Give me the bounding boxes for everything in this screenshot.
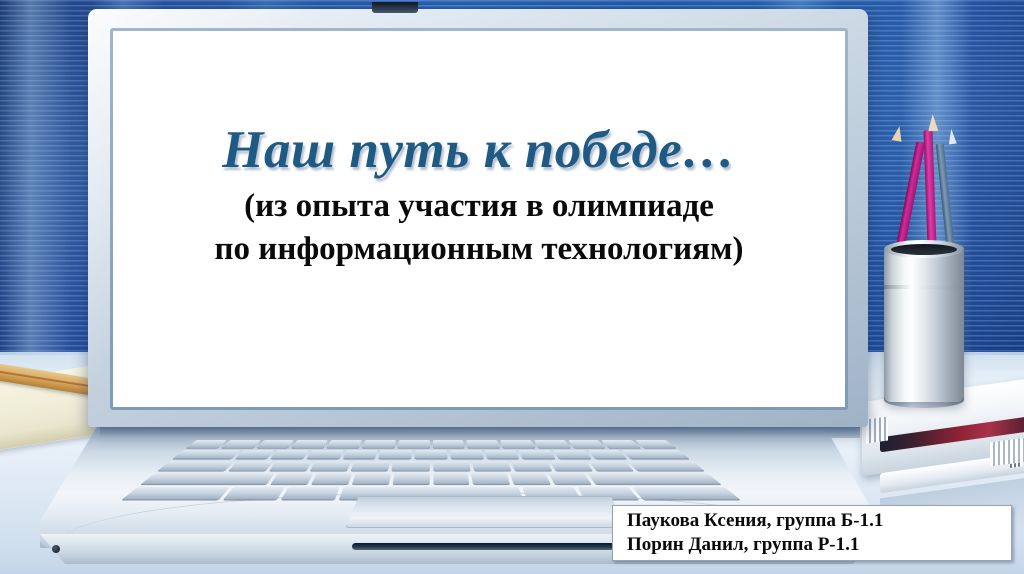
key[interactable]	[450, 450, 484, 459]
key[interactable]	[158, 461, 235, 471]
key[interactable]	[588, 473, 721, 484]
slide-subtitle-line-2: по информационным технологиям)	[113, 228, 845, 272]
laptop-trackpad[interactable]	[345, 496, 625, 528]
keyboard-row	[173, 450, 690, 459]
slide-title: Наш путь к победе…	[113, 123, 845, 179]
key[interactable]	[362, 440, 396, 448]
key[interactable]	[122, 487, 230, 500]
key[interactable]	[589, 461, 634, 471]
key[interactable]	[622, 450, 689, 459]
key[interactable]	[519, 450, 556, 459]
pencil-cup-opening	[891, 244, 957, 255]
key[interactable]	[500, 440, 535, 448]
key[interactable]	[223, 487, 285, 500]
key[interactable]	[553, 450, 591, 459]
laptop-front-port-icon	[52, 545, 60, 553]
pencil-pink-tip-icon	[928, 114, 939, 131]
slide-subtitle-line-1: (из опыта участия в олимпиаде	[113, 185, 845, 229]
author-line-1: Паукова Ксения, группа Б-1.1	[627, 509, 1011, 533]
key[interactable]	[327, 440, 362, 448]
key[interactable]	[270, 473, 313, 484]
key[interactable]	[271, 450, 309, 459]
laptop-lid-latch-icon	[372, 2, 418, 13]
key[interactable]	[471, 473, 510, 484]
key[interactable]	[310, 461, 351, 471]
key[interactable]	[352, 473, 391, 484]
key[interactable]	[415, 450, 448, 459]
printer-vents-right-icon	[990, 437, 1024, 466]
key[interactable]	[257, 440, 295, 448]
key[interactable]	[511, 461, 552, 471]
author-line-2: Порин Данил, группа Р-1.1	[627, 533, 1011, 557]
key[interactable]	[601, 440, 640, 448]
key[interactable]	[550, 461, 593, 471]
key[interactable]	[632, 487, 740, 500]
pencil-blue-tip-icon	[947, 129, 957, 145]
laptop-keyboard[interactable]	[155, 440, 708, 473]
key[interactable]	[392, 461, 429, 471]
presentation-slide: Наш путь к победе… (из опыта участия в о…	[0, 0, 1024, 574]
key[interactable]	[292, 440, 328, 448]
key[interactable]	[173, 450, 240, 459]
key[interactable]	[628, 461, 705, 471]
laptop-front-slot	[352, 543, 614, 550]
key[interactable]	[534, 440, 570, 448]
key[interactable]	[311, 473, 352, 484]
pencil-cup	[884, 247, 964, 402]
key[interactable]	[568, 440, 606, 448]
key[interactable]	[221, 440, 260, 448]
key[interactable]	[549, 473, 592, 484]
key[interactable]	[379, 450, 413, 459]
key[interactable]	[141, 473, 274, 484]
keyboard-row	[186, 440, 676, 448]
key[interactable]	[466, 440, 500, 448]
keyboard-row	[158, 461, 705, 471]
key[interactable]	[343, 450, 378, 459]
printer-vents-left-icon	[866, 416, 888, 443]
key[interactable]	[510, 473, 551, 484]
key[interactable]	[588, 450, 628, 459]
key[interactable]	[351, 461, 390, 471]
key[interactable]	[229, 461, 274, 471]
key[interactable]	[307, 450, 344, 459]
keyboard-row	[141, 473, 721, 484]
key[interactable]	[433, 473, 470, 484]
key[interactable]	[235, 450, 275, 459]
pencil-cup-band	[884, 285, 964, 289]
key[interactable]	[472, 461, 511, 471]
key[interactable]	[433, 440, 465, 448]
key[interactable]	[484, 450, 519, 459]
key[interactable]	[392, 473, 429, 484]
slide-content: Наш путь к победе… (из опыта участия в о…	[113, 123, 845, 272]
key[interactable]	[281, 487, 340, 500]
key[interactable]	[269, 461, 312, 471]
key[interactable]	[433, 461, 470, 471]
key[interactable]	[397, 440, 429, 448]
author-caption-box: Паукова Ксения, группа Б-1.1 Порин Данил…	[612, 505, 1012, 561]
laptop-screen: Наш путь к победе… (из опыта участия в о…	[113, 31, 845, 407]
